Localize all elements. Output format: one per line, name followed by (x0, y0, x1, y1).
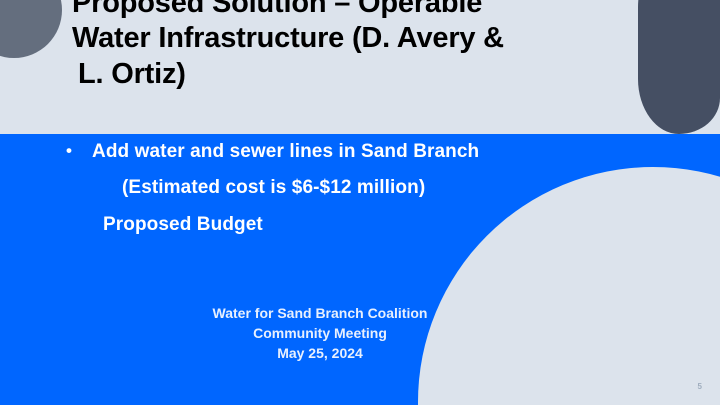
slide-content: • Add water and sewer lines in Sand Bran… (0, 134, 720, 405)
slide-title-line-2: Water Infrastructure (D. Avery & (72, 21, 592, 56)
footer-date: May 25, 2024 (0, 344, 640, 364)
slide-title: Proposed Solution – Operable Water Infra… (72, 0, 592, 92)
presentation-slide: Proposed Solution – Operable Water Infra… (0, 0, 720, 405)
footer-event: Community Meeting (0, 324, 640, 344)
decorative-petal-top-right-icon (638, 0, 720, 134)
bullet-item-1-label: Add water and sewer lines in Sand Branch (92, 140, 479, 164)
estimated-cost-note: (Estimated cost is $6-$12 million) (122, 177, 425, 199)
footer-organization: Water for Sand Branch Coalition (0, 304, 640, 324)
page-number: 5 (698, 382, 702, 391)
bullet-item-1: • Add water and sewer lines in Sand Bran… (66, 140, 479, 164)
slide-title-line-1: Proposed Solution – Operable (72, 0, 592, 21)
slide-title-line-3: L. Ortiz) (72, 57, 592, 92)
decorative-circle-top-left-icon (0, 0, 62, 58)
proposed-budget-heading: Proposed Budget (103, 214, 263, 236)
bullet-dot-icon: • (66, 140, 92, 161)
slide-footer: Water for Sand Branch Coalition Communit… (0, 304, 640, 364)
